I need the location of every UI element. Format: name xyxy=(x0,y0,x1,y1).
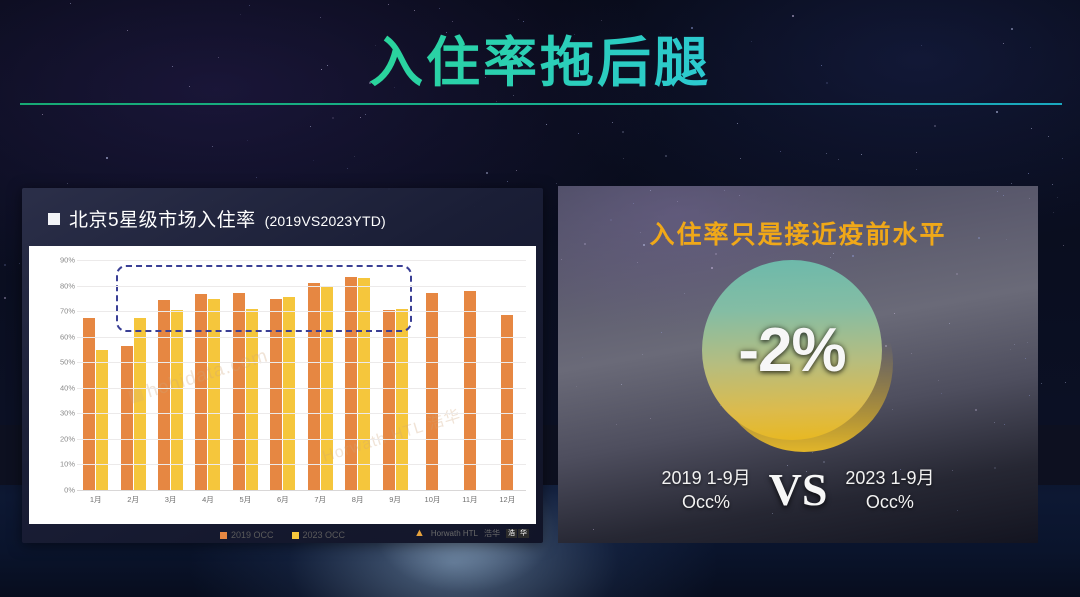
bar xyxy=(195,294,207,490)
bar xyxy=(426,293,438,490)
bar-group: 10月 xyxy=(414,260,451,490)
grid-line xyxy=(77,260,526,261)
bar-group: 6月 xyxy=(264,260,301,490)
plot-area: 1月2月3月4月5月6月7月8月9月10月11月12月 hohidata.com… xyxy=(29,246,536,524)
metric-value: -2% xyxy=(702,260,882,440)
grid-line xyxy=(77,439,526,440)
grid-line xyxy=(77,286,526,287)
y-axis-tick-label: 60% xyxy=(35,332,75,341)
bar xyxy=(464,291,476,490)
x-axis-tick-label: 7月 xyxy=(314,494,326,505)
bar-group: 1月 xyxy=(77,260,114,490)
page-title: 入住率拖后腿 xyxy=(0,34,1080,93)
vs-label: VS xyxy=(769,467,828,513)
x-axis-tick-label: 11月 xyxy=(462,494,477,505)
chart-title: 北京5星级市场入住率 xyxy=(69,205,256,232)
grid-line xyxy=(77,464,526,465)
x-axis-tick-label: 12月 xyxy=(499,494,515,505)
bar xyxy=(270,299,282,490)
brand-name: Horwath HTL xyxy=(431,529,478,538)
comparison-left: 2019 1-9月 Occ% xyxy=(662,466,751,515)
secondary-logo-icon: 浩 华 xyxy=(506,529,529,538)
panel-headline: 入住率只是接近疫前水平 xyxy=(558,215,1038,251)
comparison-right-period: 2023 1-9月 xyxy=(845,466,934,490)
bar-group: 8月 xyxy=(339,260,376,490)
bar xyxy=(358,278,370,490)
legend-swatch-icon xyxy=(220,532,227,539)
y-axis-tick-label: 50% xyxy=(35,358,75,367)
summary-panel: 入住率只是接近疫前水平 -2% 2019 1-9月 Occ% VS 2023 1… xyxy=(558,186,1038,543)
x-axis-tick-label: 4月 xyxy=(202,494,214,505)
comparison-row: 2019 1-9月 Occ% VS 2023 1-9月 Occ% xyxy=(558,466,1038,515)
y-axis-tick-label: 0% xyxy=(35,486,75,495)
grid-line xyxy=(77,413,526,414)
comparison-left-metric: Occ% xyxy=(662,490,751,514)
legend-item-2019: 2019 OCC xyxy=(220,530,274,540)
legend-label: 2023 OCC xyxy=(303,530,346,540)
x-axis-tick-label: 2月 xyxy=(127,494,139,505)
grid-line xyxy=(77,311,526,312)
y-axis-tick-label: 90% xyxy=(35,256,75,265)
slide-root: 入住率拖后腿 北京5星级市场入住率 (2019VS2023YTD) 1月2月3月… xyxy=(0,0,1080,597)
x-axis-tick-label: 8月 xyxy=(352,494,364,505)
grid-line xyxy=(77,337,526,338)
bar xyxy=(158,300,170,490)
bar-group: 9月 xyxy=(376,260,413,490)
metric-circle-wrap: -2% xyxy=(702,260,894,452)
chart-brand-footer: ▲ Horwath HTL 浩华 浩 华 xyxy=(414,528,529,539)
bar-group: 12月 xyxy=(489,260,526,490)
mountain-logo-icon: ▲ xyxy=(414,528,425,539)
x-axis-tick-label: 9月 xyxy=(389,494,401,505)
bar xyxy=(283,297,295,490)
square-bullet-icon xyxy=(48,213,60,225)
y-axis-tick-label: 20% xyxy=(35,434,75,443)
grid-line xyxy=(77,490,526,491)
bar-group: 3月 xyxy=(152,260,189,490)
y-axis-tick-label: 10% xyxy=(35,460,75,469)
comparison-left-period: 2019 1-9月 xyxy=(662,466,751,490)
bar-group: 11月 xyxy=(451,260,488,490)
x-axis-tick-label: 1月 xyxy=(90,494,102,505)
bar-group: 4月 xyxy=(189,260,226,490)
bar-group: 2月 xyxy=(114,260,151,490)
bar-chart: 1月2月3月4月5月6月7月8月9月10月11月12月 hohidata.com… xyxy=(29,246,536,524)
grid-line xyxy=(77,362,526,363)
legend-swatch-icon xyxy=(292,532,299,539)
x-axis-tick-label: 10月 xyxy=(425,494,441,505)
bar xyxy=(121,346,133,490)
y-axis-tick-label: 70% xyxy=(35,307,75,316)
chart-card: 北京5星级市场入住率 (2019VS2023YTD) 1月2月3月4月5月6月7… xyxy=(22,188,543,543)
bar xyxy=(208,299,220,490)
bar-group: 5月 xyxy=(227,260,264,490)
title-divider xyxy=(20,103,1062,105)
comparison-right: 2023 1-9月 Occ% xyxy=(845,466,934,515)
bar-groups: 1月2月3月4月5月6月7月8月9月10月11月12月 xyxy=(77,260,526,490)
x-axis-tick-label: 3月 xyxy=(165,494,177,505)
legend-item-2023: 2023 OCC xyxy=(292,530,346,540)
x-axis-tick-label: 5月 xyxy=(240,494,252,505)
grid-line xyxy=(77,388,526,389)
bar-group: 7月 xyxy=(302,260,339,490)
comparison-right-metric: Occ% xyxy=(845,490,934,514)
bar xyxy=(345,277,357,490)
y-axis-tick-label: 80% xyxy=(35,281,75,290)
chart-subtitle: (2019VS2023YTD) xyxy=(265,213,386,229)
y-axis-tick-label: 30% xyxy=(35,409,75,418)
y-axis-tick-label: 40% xyxy=(35,383,75,392)
bar xyxy=(233,293,245,490)
chart-heading: 北京5星级市场入住率 (2019VS2023YTD) xyxy=(48,205,386,232)
secondary-logo-char-2: 华 xyxy=(518,529,529,538)
bar xyxy=(96,350,108,490)
x-axis-tick-label: 6月 xyxy=(277,494,289,505)
brand-name-cn: 浩华 xyxy=(484,528,500,539)
bar xyxy=(308,283,320,490)
secondary-logo-char-1: 浩 xyxy=(506,529,517,538)
legend-label: 2019 OCC xyxy=(231,530,274,540)
